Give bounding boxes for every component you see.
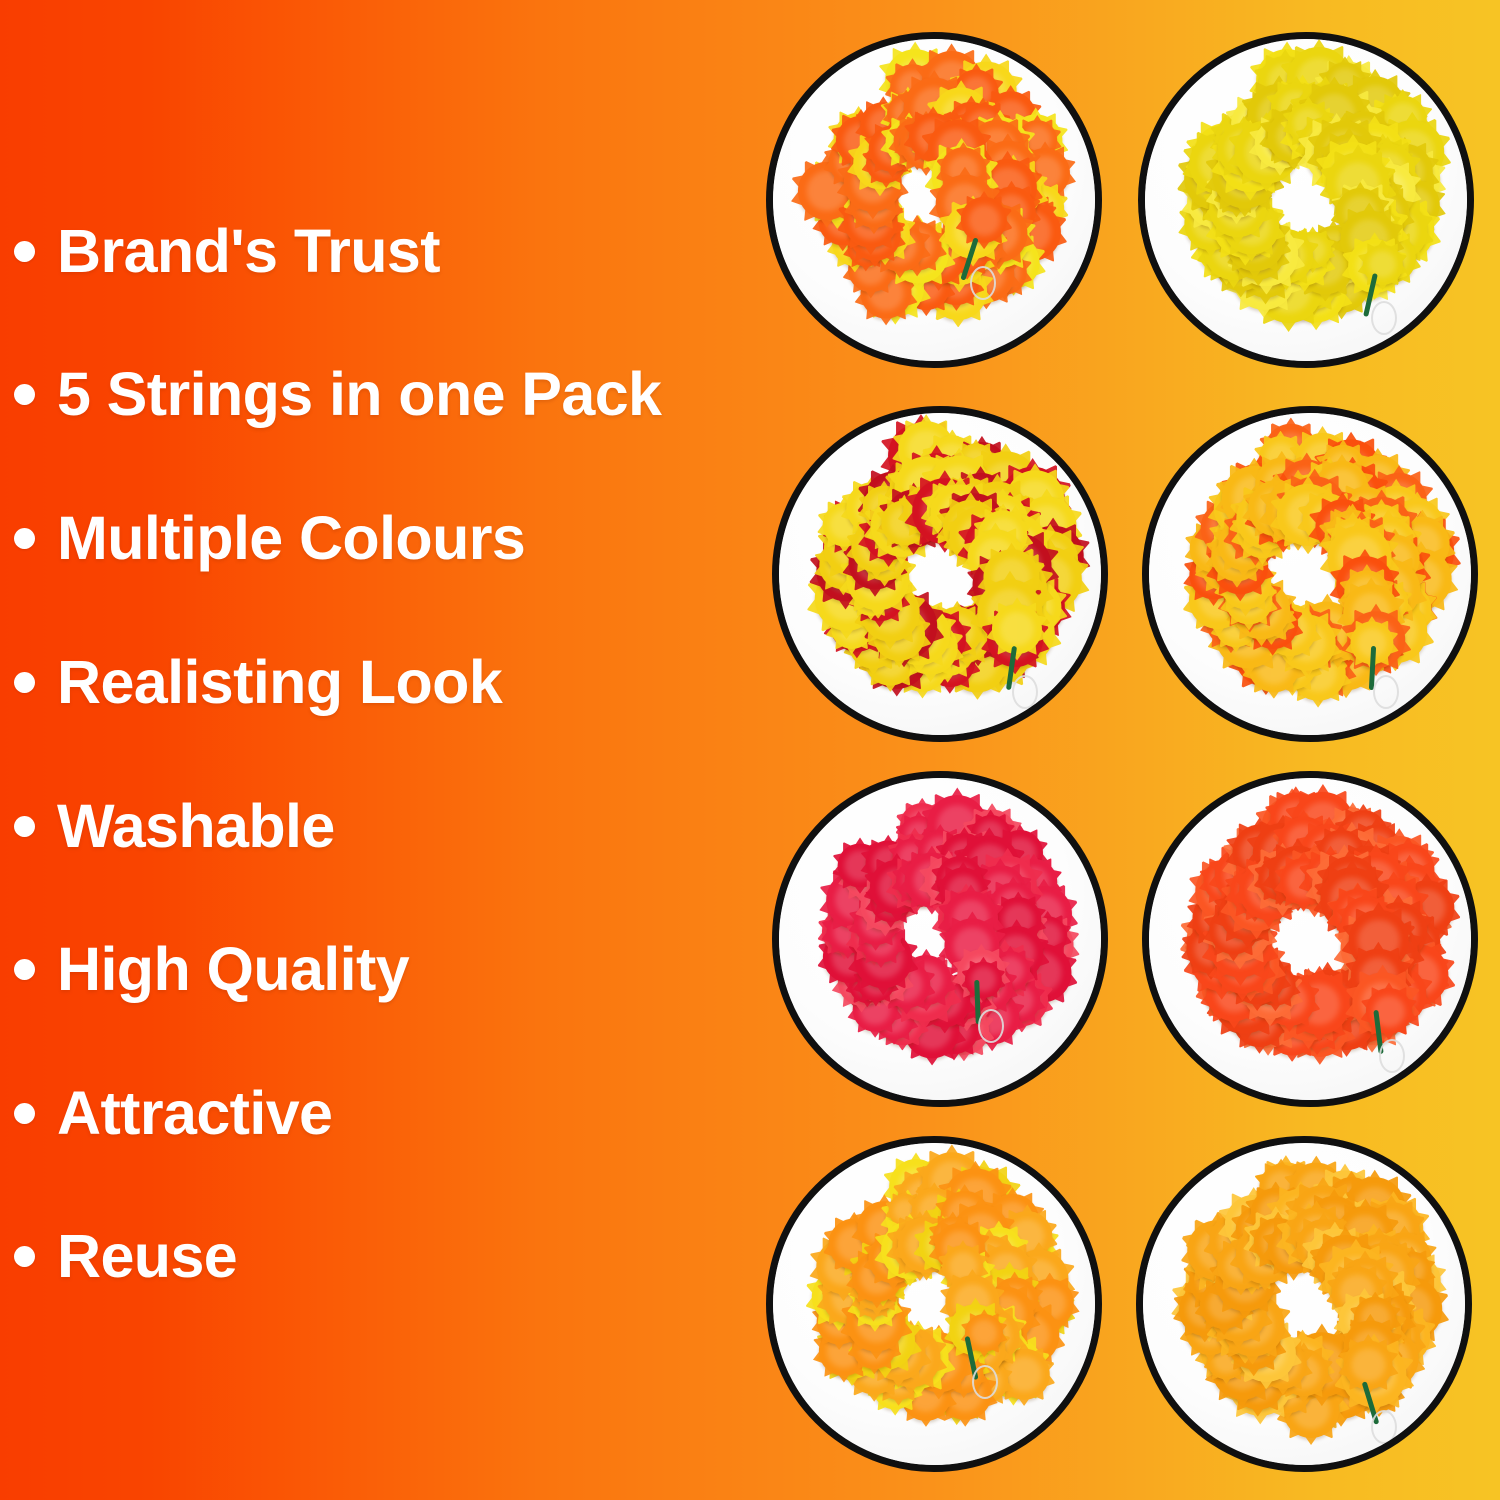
photo-image: [773, 39, 1095, 361]
garland-strand: [1145, 39, 1467, 361]
product-photo-grid: [752, 0, 1500, 1500]
marigold-flower: [992, 604, 1042, 654]
garland-thread-loop: [1371, 301, 1397, 335]
product-photo-golden-amber-garland[interactable]: [1136, 1136, 1472, 1472]
marigold-flower: [1362, 244, 1402, 284]
product-photo-pink-garland[interactable]: [772, 771, 1108, 1107]
feature-item-washable: Washable: [14, 788, 335, 864]
bullet-icon: [14, 528, 35, 549]
photo-image: [779, 413, 1101, 735]
photo-image: [1149, 413, 1471, 735]
feature-label: Brand's Trust: [57, 221, 440, 282]
marigold-flower: [1344, 1340, 1393, 1389]
feature-item-brands-trust: Brand's Trust: [14, 213, 440, 289]
feature-item-realisting-look: Realisting Look: [14, 644, 502, 720]
product-photo-yellow-garland[interactable]: [1138, 32, 1474, 368]
feature-item-multiple-colours: Multiple Colours: [14, 500, 525, 576]
feature-label: Attractive: [57, 1083, 332, 1144]
garland-thread-loop: [978, 1009, 1004, 1043]
photo-image: [779, 778, 1101, 1100]
garland-strand: [773, 39, 1095, 361]
garland-strand: [1143, 1143, 1465, 1465]
photo-image: [1145, 39, 1467, 361]
feature-label: Realisting Look: [57, 652, 502, 713]
photo-image: [773, 1143, 1095, 1465]
garland-thread-loop: [1379, 1039, 1405, 1073]
photo-image: [1149, 778, 1471, 1100]
feature-label: Multiple Colours: [57, 508, 525, 569]
bullet-icon: [14, 384, 35, 405]
marigold-flower: [965, 961, 1001, 997]
product-photo-orange-garland[interactable]: [1142, 771, 1478, 1107]
garland-thread-loop: [970, 266, 996, 300]
feature-list: Brand's Trust 5 Strings in one Pack Mult…: [0, 0, 760, 1500]
product-photo-orange-yellow-dense-garland[interactable]: [1142, 406, 1478, 742]
product-photo-yellow-golden-garland[interactable]: [766, 1136, 1102, 1472]
feature-label: Washable: [57, 796, 335, 857]
garland-strand: [1149, 413, 1471, 735]
bullet-icon: [14, 1103, 35, 1124]
feature-label: Reuse: [57, 1226, 237, 1287]
feature-label: High Quality: [57, 939, 409, 1000]
product-photo-orange-yellow-mixed-garland[interactable]: [766, 32, 1102, 368]
bullet-icon: [14, 241, 35, 262]
product-photo-red-yellow-garland[interactable]: [772, 406, 1108, 742]
bullet-icon: [14, 816, 35, 837]
garland-strand: [1149, 778, 1471, 1100]
bullet-icon: [14, 959, 35, 980]
marigold-flower: [961, 197, 1007, 243]
photo-image: [1143, 1143, 1465, 1465]
garland-thread-loop: [1012, 675, 1038, 709]
garland-strand: [779, 778, 1101, 1100]
feature-item-attractive: Attractive: [14, 1075, 332, 1151]
garland-strand: [773, 1143, 1095, 1465]
garland-strand: [779, 413, 1101, 735]
bullet-icon: [14, 1246, 35, 1267]
product-feature-infographic: Brand's Trust 5 Strings in one Pack Mult…: [0, 0, 1500, 1500]
garland-thread-loop: [1373, 675, 1399, 709]
feature-item-5-strings: 5 Strings in one Pack: [14, 356, 661, 432]
garland-thread-loop: [1371, 1410, 1397, 1444]
bullet-icon: [14, 672, 35, 693]
feature-item-high-quality: High Quality: [14, 931, 409, 1007]
feature-item-reuse: Reuse: [14, 1218, 237, 1294]
feature-label: 5 Strings in one Pack: [57, 364, 661, 425]
